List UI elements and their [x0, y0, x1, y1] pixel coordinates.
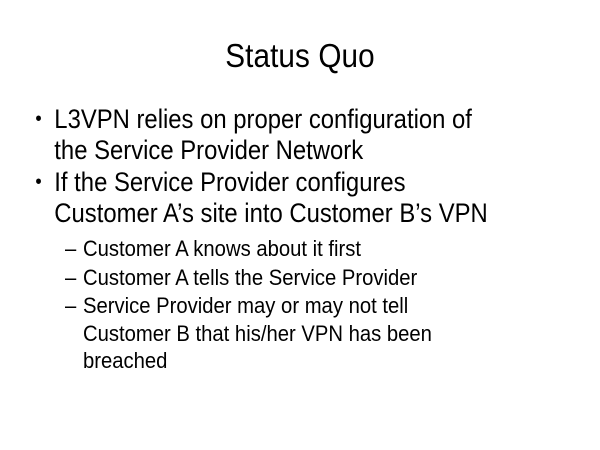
bullet-dot-icon: • [35, 104, 41, 135]
sub-bullet-text-line: Customer A knows about it first [83, 235, 587, 263]
bullet-item: • L3VPN relies on proper configuration o… [30, 104, 598, 166]
slide-title: Status Quo [30, 36, 570, 76]
bullet-text-line: the Service Provider Network [54, 135, 598, 166]
bullet-dot-icon: • [35, 167, 41, 198]
bullet-text-line: If the Service Provider configures [54, 167, 598, 198]
sub-bullet-list: – Customer A knows about it first – Cust… [30, 235, 575, 375]
sub-bullet-text-line: Service Provider may or may not tell [83, 292, 587, 320]
bullet-text-line: L3VPN relies on proper configuration of [54, 104, 598, 135]
bullet-dash-icon: – [65, 235, 76, 263]
bullet-dash-icon: – [65, 264, 76, 292]
bullet-text-line: Customer A’s site into Customer B’s VPN [54, 198, 598, 229]
bullet-dash-icon: – [65, 292, 76, 320]
sub-bullet-text-line: breached [83, 347, 587, 375]
sub-bullet-item: – Customer A tells the Service Provider [65, 264, 587, 292]
sub-bullet-item: – Customer A knows about it first [65, 235, 587, 263]
sub-bullet-text-line: Customer A tells the Service Provider [83, 264, 587, 292]
slide-body: • L3VPN relies on proper configuration o… [30, 104, 575, 376]
presentation-slide: Status Quo • L3VPN relies on proper conf… [0, 0, 600, 450]
bullet-item: • If the Service Provider configures Cus… [30, 167, 598, 229]
sub-bullet-item: – Service Provider may or may not tell C… [65, 292, 587, 375]
sub-bullet-text-line: Customer B that his/her VPN has been [83, 320, 587, 348]
